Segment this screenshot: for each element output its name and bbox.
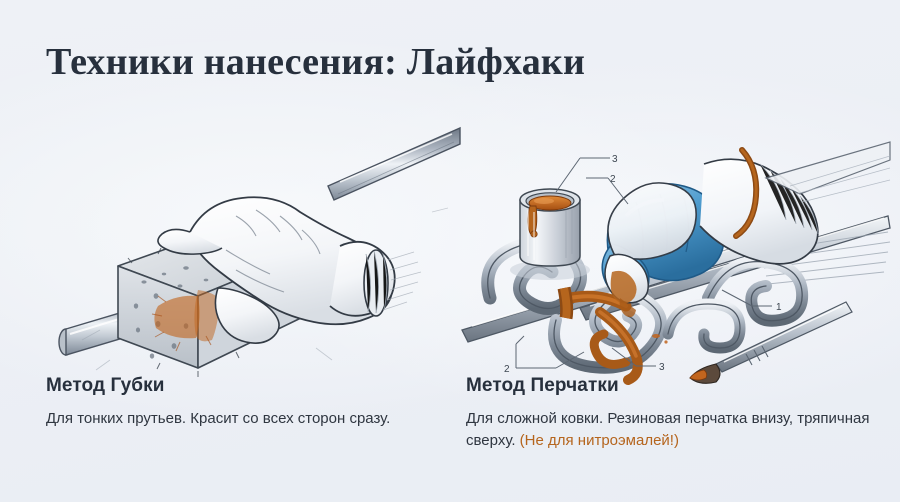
callout-1-bar: 1: [776, 302, 782, 313]
callout-3-scroll: 3: [659, 362, 665, 373]
sponge-method-illustration: [40, 120, 460, 370]
caption-warning-glove: (Не для нитроэмалей!): [520, 432, 679, 449]
caption-text-sponge: Для тонких прутьев. Красит со всех сторо…: [46, 410, 390, 427]
paint-can: [510, 189, 590, 280]
callout-2-ironwork: 2: [504, 364, 510, 375]
glove-illustration-svg: 3 2 1 3 2: [460, 120, 890, 370]
caption-body-glove: Для сложной ковки. Резиновая перчатка вн…: [466, 408, 886, 452]
callout-2-gloves: 2: [610, 174, 616, 185]
scroll-ornament-upper-right: [708, 262, 802, 321]
illustration-panel-glove: 3 2 1 3 2: [460, 120, 890, 370]
sponge-illustration-svg: [40, 120, 460, 370]
caption-glove: Метод Перчатки Для сложной ковки. Резино…: [466, 376, 886, 452]
caption-sponge: Метод Губки Для тонких прутьев. Красит с…: [46, 376, 446, 430]
caption-heading-sponge: Метод Губки: [46, 376, 446, 397]
caption-body-sponge: Для тонких прутьев. Красит со всех сторо…: [46, 408, 446, 430]
callout-3-can: 3: [612, 154, 618, 165]
scroll-ornament-lower-right: [668, 304, 740, 348]
background-rod: [328, 128, 460, 200]
page-title: Техники нанесения: Лайфхаки: [46, 40, 585, 84]
caption-heading-glove: Метод Перчатки: [466, 376, 886, 397]
infographic-page: Техники нанесения: Лайфхаки: [0, 0, 900, 502]
illustration-panel-sponge: [40, 120, 460, 370]
glove-method-illustration: 3 2 1 3 2: [460, 120, 890, 370]
